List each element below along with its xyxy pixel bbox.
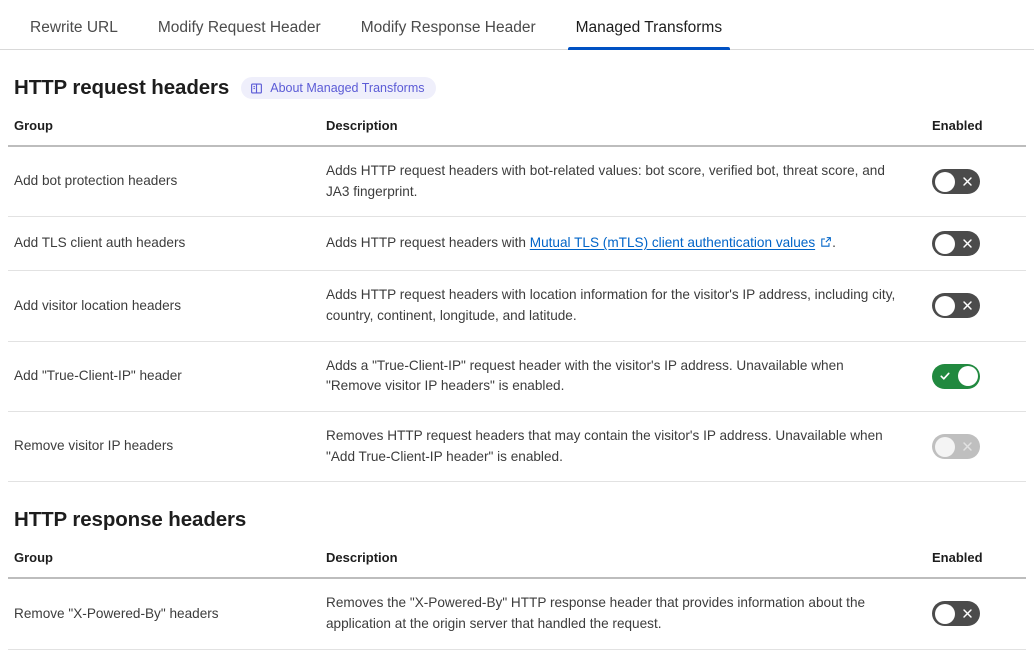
- column-header-group: Group: [8, 546, 320, 578]
- tab-bar: Rewrite URLModify Request HeaderModify R…: [0, 0, 1034, 50]
- mtls-docs-link[interactable]: Mutual TLS (mTLS) client authentication …: [530, 235, 832, 250]
- page-content: HTTP request headersAbout Managed Transf…: [0, 76, 1034, 653]
- row-description: Removes the "X-Powered-By" HTTP response…: [320, 578, 926, 649]
- tab-modify-request-header[interactable]: Modify Request Header: [138, 20, 341, 50]
- tab-rewrite-url[interactable]: Rewrite URL: [10, 20, 138, 50]
- enabled-toggle[interactable]: [932, 169, 980, 194]
- column-header-description: Description: [320, 546, 926, 578]
- description-text: Adds HTTP request headers with bot-relat…: [326, 163, 885, 199]
- row-enabled-cell: [926, 411, 1026, 481]
- check-icon: [932, 364, 958, 389]
- row-group-name: Remove visitor IP headers: [8, 411, 320, 481]
- section-header: HTTP request headersAbout Managed Transf…: [8, 76, 1026, 100]
- tab-modify-response-header[interactable]: Modify Response Header: [341, 20, 556, 50]
- row-description: Adds HTTP request headers with location …: [320, 271, 926, 341]
- section-title: HTTP request headers: [14, 76, 229, 100]
- section: HTTP response headersGroupDescriptionEna…: [8, 508, 1026, 653]
- row-description: Adds a "True-Client-IP" request header w…: [320, 341, 926, 411]
- managed-transforms-table: GroupDescriptionEnabledAdd bot protectio…: [8, 114, 1026, 482]
- table-row: Add visitor location headersAdds HTTP re…: [8, 271, 1026, 341]
- enabled-toggle[interactable]: [932, 231, 980, 256]
- enabled-toggle[interactable]: [932, 293, 980, 318]
- section-title: HTTP response headers: [14, 508, 246, 532]
- table-row: Add TLS client auth headersAdds HTTP req…: [8, 217, 1026, 271]
- table-header-row: GroupDescriptionEnabled: [8, 546, 1026, 578]
- description-text-after: .: [832, 235, 836, 250]
- row-group-name: Add security headers: [8, 649, 320, 653]
- x-icon: [954, 293, 980, 318]
- row-group-name: Add bot protection headers: [8, 146, 320, 217]
- toggle-knob: [958, 366, 978, 386]
- toggle-knob: [935, 296, 955, 316]
- toggle-knob: [935, 234, 955, 254]
- x-icon: [954, 169, 980, 194]
- column-header-group: Group: [8, 114, 320, 146]
- description-text-before: Adds HTTP request headers with: [326, 235, 530, 250]
- row-enabled-cell: [926, 578, 1026, 649]
- row-enabled-cell: [926, 649, 1026, 653]
- x-icon: [954, 601, 980, 626]
- row-group-name: Remove "X-Powered-By" headers: [8, 578, 320, 649]
- row-group-name: Add visitor location headers: [8, 271, 320, 341]
- badge-label: About Managed Transforms: [270, 81, 424, 95]
- description-text: Removes the "X-Powered-By" HTTP response…: [326, 595, 865, 631]
- toggle-knob: [935, 604, 955, 624]
- external-link-icon: [820, 234, 832, 255]
- section-header: HTTP response headers: [8, 508, 1026, 532]
- table-row: Remove "X-Powered-By" headersRemoves the…: [8, 578, 1026, 649]
- table-row: Remove visitor IP headersRemoves HTTP re…: [8, 411, 1026, 481]
- managed-transforms-table: GroupDescriptionEnabledRemove "X-Powered…: [8, 546, 1026, 653]
- row-group-name: Add "True-Client-IP" header: [8, 341, 320, 411]
- book-icon: [250, 82, 263, 95]
- tab-managed-transforms[interactable]: Managed Transforms: [556, 20, 742, 50]
- row-description: Adds HTTP request headers with Mutual TL…: [320, 217, 926, 271]
- column-header-enabled: Enabled: [926, 114, 1026, 146]
- toggle-knob: [935, 437, 955, 457]
- row-enabled-cell: [926, 271, 1026, 341]
- row-enabled-cell: [926, 217, 1026, 271]
- table-row: Add security headersAdds several securit…: [8, 649, 1026, 653]
- enabled-toggle[interactable]: [932, 601, 980, 626]
- row-enabled-cell: [926, 146, 1026, 217]
- table-header-row: GroupDescriptionEnabled: [8, 114, 1026, 146]
- enabled-toggle: [932, 434, 980, 459]
- row-group-name: Add TLS client auth headers: [8, 217, 320, 271]
- row-description: Removes HTTP request headers that may co…: [320, 411, 926, 481]
- column-header-description: Description: [320, 114, 926, 146]
- about-managed-transforms-badge[interactable]: About Managed Transforms: [241, 77, 436, 99]
- enabled-toggle[interactable]: [932, 364, 980, 389]
- section: HTTP request headersAbout Managed Transf…: [8, 76, 1026, 482]
- row-description: Adds HTTP request headers with bot-relat…: [320, 146, 926, 217]
- description-text: Adds a "True-Client-IP" request header w…: [326, 358, 844, 394]
- row-description: Adds several security-related HTTP respo…: [320, 649, 926, 653]
- table-row: Add "True-Client-IP" headerAdds a "True-…: [8, 341, 1026, 411]
- toggle-knob: [935, 172, 955, 192]
- description-text: Removes HTTP request headers that may co…: [326, 428, 883, 464]
- link-label: Mutual TLS (mTLS) client authentication …: [530, 235, 815, 250]
- row-enabled-cell: [926, 341, 1026, 411]
- table-row: Add bot protection headersAdds HTTP requ…: [8, 146, 1026, 217]
- column-header-enabled: Enabled: [926, 546, 1026, 578]
- x-icon: [954, 434, 980, 459]
- description-text: Adds HTTP request headers with location …: [326, 287, 895, 323]
- x-icon: [954, 231, 980, 256]
